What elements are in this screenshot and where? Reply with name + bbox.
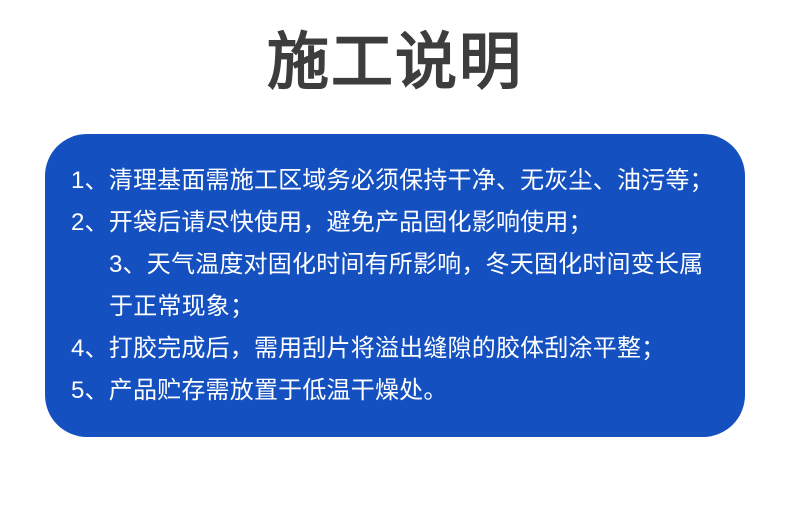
list-item: 3、天气温度对固化时间有所影响，冬天固化时间变长属于正常现象； [71, 244, 717, 328]
list-item: 5、产品贮存需放置于低温干燥处。 [71, 370, 717, 412]
list-item: 4、打胶完成后，需用刮片将溢出缝隙的胶体刮涂平整； [71, 328, 717, 370]
construction-instructions-page: 施工说明 1、清理基面需施工区域务必须保持干净、无灰尘、油污等； 2、开袋后请尽… [0, 0, 790, 517]
page-title: 施工说明 [0, 24, 790, 102]
instructions-card: 1、清理基面需施工区域务必须保持干净、无灰尘、油污等； 2、开袋后请尽快使用，避… [45, 134, 745, 437]
list-item: 2、开袋后请尽快使用，避免产品固化影响使用； [71, 202, 717, 244]
list-item: 1、清理基面需施工区域务必须保持干净、无灰尘、油污等； [71, 160, 717, 202]
instructions-list: 1、清理基面需施工区域务必须保持干净、无灰尘、油污等； 2、开袋后请尽快使用，避… [71, 160, 717, 412]
